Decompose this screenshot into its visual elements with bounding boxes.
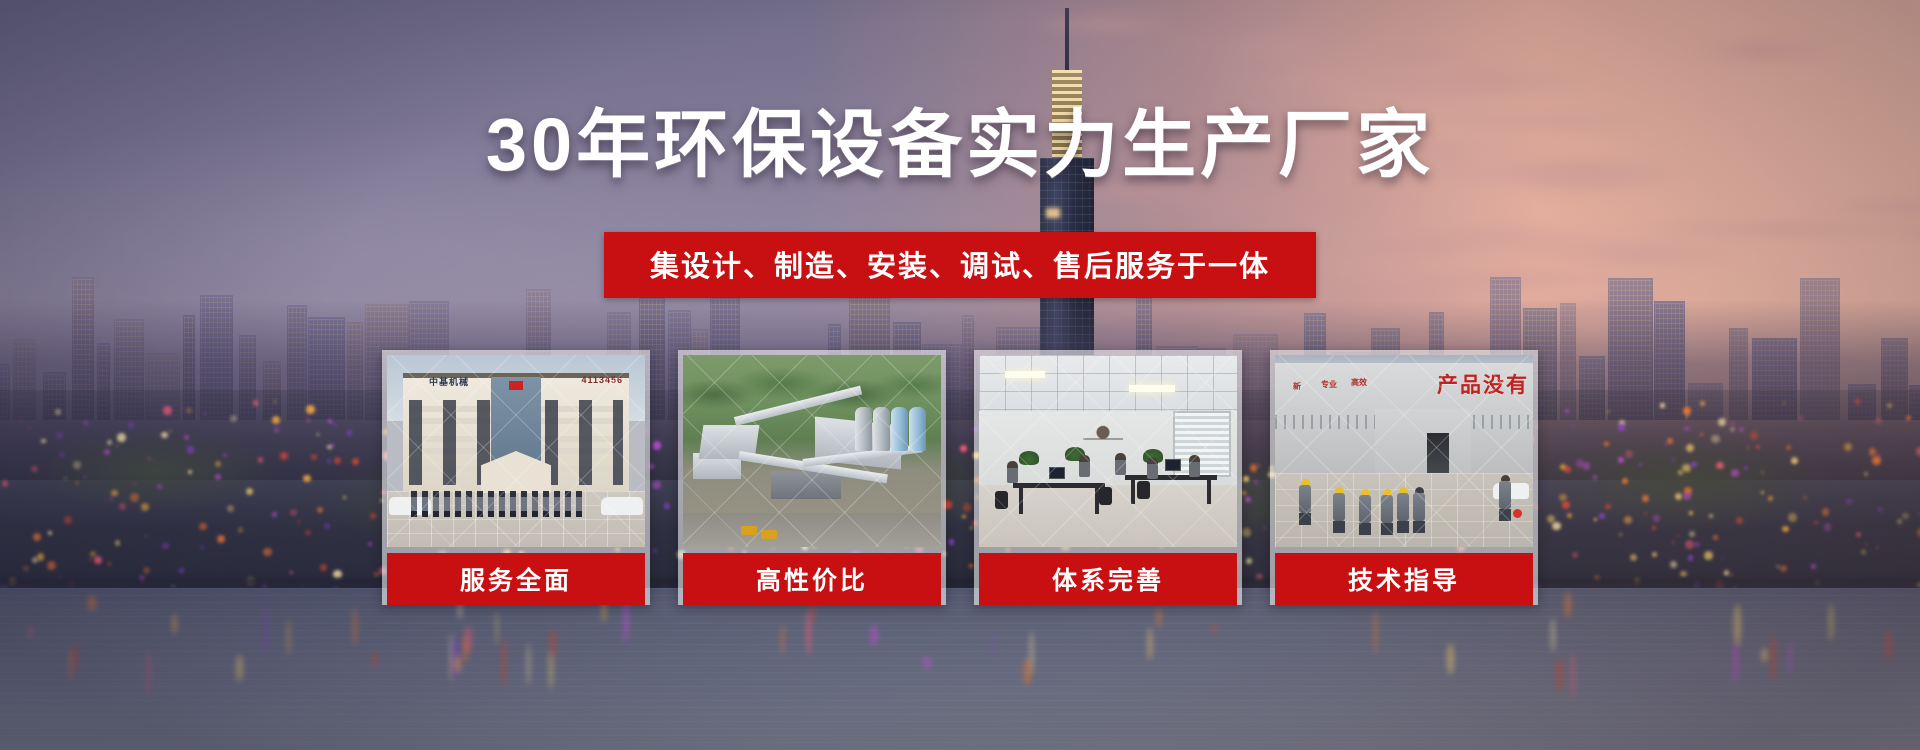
banner-content: 30年环保设备实力生产厂家 集设计、制造、安装、调试、售后服务于一体 中基机械 …: [0, 0, 1920, 750]
card-label: 技术指导: [1275, 553, 1533, 605]
thumb4-roller-shutter: [1375, 409, 1471, 475]
thumb4-wall-slogan-1: 新: [1293, 381, 1301, 392]
thumb1-flag: [509, 381, 523, 390]
thumb4-side-door: [1427, 433, 1449, 473]
thumb3-chair: [995, 491, 1008, 509]
thumb1-staff-lineup: [411, 491, 621, 521]
thumb3-monitor: [1049, 467, 1065, 479]
thumb3-desk: [1013, 483, 1105, 488]
card-thumbnail-aerial-plant: [683, 355, 941, 547]
thumb2-silo: [909, 407, 926, 451]
thumb3-monitor: [1165, 459, 1181, 471]
thumb3-person: [1189, 455, 1200, 477]
thumb4-wall-slogan-3: 高效: [1351, 377, 1367, 388]
card-label: 服务全面: [387, 553, 645, 605]
card-label: 高性价比: [683, 553, 941, 605]
thumb3-ceiling: [979, 355, 1237, 411]
banner-subtitle-row: 集设计、制造、安装、调试、售后服务于一体: [0, 232, 1920, 298]
thumb4-wall-slogan-2: 专业: [1321, 379, 1337, 390]
thumb3-desk-leg: [1207, 480, 1211, 504]
thumb3-person: [1147, 457, 1158, 479]
thumb4-worker: [1333, 487, 1345, 533]
card-thumbnail-office-building: 中基机械 4113456: [387, 355, 645, 547]
thumb2-canopy: [771, 471, 841, 499]
thumb3-chair: [1137, 481, 1150, 499]
thumb3-light-panel: [1129, 385, 1175, 392]
thumb2-silo: [873, 407, 890, 451]
feature-card[interactable]: 中基机械 4113456 服务全面: [382, 350, 650, 605]
thumb2-loader: [741, 526, 757, 535]
thumb3-desk-leg: [1131, 480, 1135, 504]
thumb4-worker: [1359, 489, 1371, 535]
feature-card[interactable]: 产品没有 新 专业 高效: [1270, 350, 1538, 605]
thumb2-loader: [761, 530, 777, 539]
thumb3-person: [1079, 455, 1090, 477]
card-thumbnail-office-interior: [979, 355, 1237, 547]
feature-card-row: 中基机械 4113456 服务全面: [382, 350, 1538, 605]
thumb4-worker: [1413, 487, 1425, 533]
thumb4-wall-slogan-large: 产品没有: [1437, 369, 1529, 399]
feature-card[interactable]: 高性价比: [678, 350, 946, 605]
thumb2-yard-road: [683, 513, 941, 547]
thumb2-silo: [855, 407, 872, 451]
feature-card[interactable]: 体系完善: [974, 350, 1242, 605]
thumb4-red-helmet: [1513, 509, 1522, 518]
thumb1-company-sign: 中基机械: [429, 375, 469, 388]
thumb4-supervisor: [1499, 475, 1511, 521]
thumb3-plant: [1019, 451, 1039, 465]
thumb3-person: [1007, 461, 1018, 483]
thumb3-chair: [1099, 487, 1112, 505]
thumb1-phone-number: 4113456: [581, 375, 623, 385]
thumb4-worker: [1381, 489, 1393, 535]
banner-subtitle-badge: 集设计、制造、安装、调试、售后服务于一体: [604, 232, 1316, 298]
card-label: 体系完善: [979, 553, 1237, 605]
hero-banner: 30年环保设备实力生产厂家 集设计、制造、安装、调试、售后服务于一体 中基机械 …: [0, 0, 1920, 750]
thumb3-window-blinds: [1173, 411, 1231, 477]
thumb3-wall-logo: [1083, 423, 1123, 449]
thumb4-worker: [1299, 479, 1311, 525]
thumb3-desk: [1125, 475, 1217, 480]
thumb3-light-panel: [1005, 371, 1045, 378]
card-thumbnail-factory-yard: 产品没有 新 专业 高效: [1275, 355, 1533, 547]
banner-headline: 30年环保设备实力生产厂家: [0, 108, 1920, 182]
thumb3-person: [1115, 453, 1126, 475]
thumb2-silo: [891, 407, 908, 451]
thumb4-worker: [1397, 487, 1409, 533]
thumb3-desk-leg: [1019, 488, 1023, 514]
